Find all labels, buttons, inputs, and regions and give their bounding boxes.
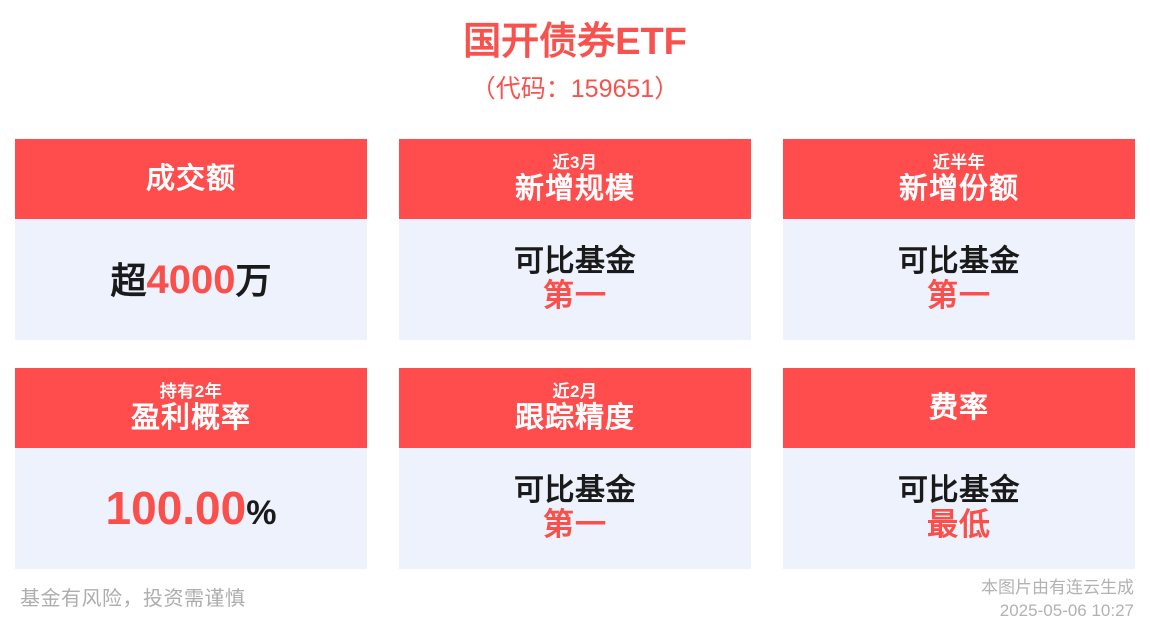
card-subtitle: 近2月 [553, 383, 598, 401]
metric-card-new-scale-3m[interactable]: 近3月 新增规模 可比基金 第一 [399, 139, 751, 340]
card-title: 盈利概率 [131, 403, 251, 434]
metric-context: 可比基金 [898, 474, 1020, 507]
card-body-new-shares-6m: 可比基金 第一 [783, 219, 1135, 340]
page-title: 国开债券ETF [0, 18, 1150, 66]
metric-card-fee-rate[interactable]: 费率 可比基金 最低 [783, 368, 1135, 569]
card-header-fee-rate: 费率 [783, 368, 1135, 448]
metric-card-profit-probability-2y[interactable]: 持有2年 盈利概率 100.00 % [15, 368, 367, 569]
value-unit: 万 [235, 261, 271, 301]
metric-rank: 第一 [543, 508, 607, 542]
card-header-turnover: 成交额 [15, 139, 367, 219]
card-body-tracking-accuracy-2m: 可比基金 第一 [399, 448, 751, 569]
metric-context: 可比基金 [514, 245, 636, 278]
card-title: 跟踪精度 [515, 403, 635, 434]
card-subtitle: 近半年 [933, 154, 986, 172]
metric-card-grid: 成交额 超 4000 万 近3月 新增规模 可比基金 第一 近半年 新增份额 可… [15, 139, 1135, 569]
generation-source: 本图片由有连云生成 [981, 576, 1134, 599]
value-number: 4000 [147, 258, 236, 302]
card-subtitle: 近3月 [553, 154, 598, 172]
fund-code: （代码：159651） [0, 70, 1150, 108]
value-unit: % [246, 495, 276, 532]
metric-context: 可比基金 [514, 474, 636, 507]
metric-value: 100.00 % [106, 483, 277, 534]
card-body-fee-rate: 可比基金 最低 [783, 448, 1135, 569]
generation-timestamp: 2025-05-06 10:27 [981, 599, 1134, 622]
card-title: 费率 [929, 393, 989, 424]
metric-card-tracking-accuracy-2m[interactable]: 近2月 跟踪精度 可比基金 第一 [399, 368, 751, 569]
value-number: 100.00 [106, 483, 247, 534]
card-header-new-shares-6m: 近半年 新增份额 [783, 139, 1135, 219]
metric-rank: 第一 [543, 279, 607, 313]
risk-disclaimer: 基金有风险，投资需谨慎 [20, 582, 246, 611]
metric-context: 可比基金 [898, 245, 1020, 278]
card-title: 成交额 [146, 164, 236, 195]
value-prefix: 超 [110, 261, 146, 301]
card-body-turnover: 超 4000 万 [15, 219, 367, 340]
metric-card-new-shares-6m[interactable]: 近半年 新增份额 可比基金 第一 [783, 139, 1135, 340]
page-header: 国开债券ETF （代码：159651） [0, 0, 1150, 108]
metric-card-turnover[interactable]: 成交额 超 4000 万 [15, 139, 367, 340]
metric-rank: 第一 [927, 279, 991, 313]
metric-value: 超 4000 万 [110, 258, 271, 302]
metric-rank: 最低 [927, 508, 991, 542]
card-body-profit-probability-2y: 100.00 % [15, 448, 367, 569]
card-header-tracking-accuracy-2m: 近2月 跟踪精度 [399, 368, 751, 448]
card-title: 新增规模 [515, 174, 635, 205]
card-header-profit-probability-2y: 持有2年 盈利概率 [15, 368, 367, 448]
card-subtitle: 持有2年 [160, 383, 222, 401]
card-body-new-scale-3m: 可比基金 第一 [399, 219, 751, 340]
generation-info: 本图片由有连云生成 2025-05-06 10:27 [981, 576, 1134, 622]
card-header-new-scale-3m: 近3月 新增规模 [399, 139, 751, 219]
card-title: 新增份额 [899, 174, 1019, 205]
